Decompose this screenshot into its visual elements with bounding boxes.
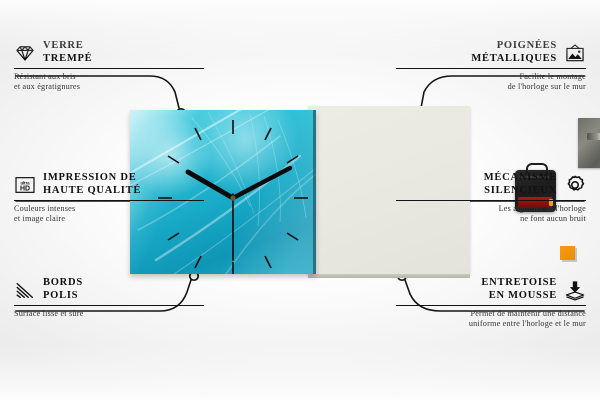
ultra-hd-icon: ultra HD [14,174,36,196]
diamond-icon [14,42,36,64]
foam-spacer [560,246,575,260]
feature-mecanisme-silencieux: MÉCANISME SILENCIEUX Les aiguilles de l'… [396,172,586,224]
divider [14,200,204,201]
divider [396,68,586,69]
feature-description: Surface lisse et sûre [14,309,204,319]
infographic-canvas: VERRE TREMPÉ Résistant aux bris et aux é… [0,0,600,400]
divider [14,68,204,69]
divider [396,200,586,201]
feature-description: Résistant aux bris et aux égratignures [14,72,204,92]
feature-description: Permet de maintenir une distance uniform… [396,309,586,329]
divider [396,305,586,306]
metal-hanger-plate [578,118,600,168]
feature-header: MÉCANISME SILENCIEUX [396,172,586,197]
hatch-lines-icon [14,279,36,301]
feature-description: Facilite le montage de l'horloge sur le … [396,72,586,92]
arrow-press-pad-icon [564,279,586,301]
feature-description: Les aiguilles de l'horloge ne font aucun… [396,204,586,224]
feature-description: Couleurs intenses et image claire [14,204,204,224]
feature-header: BORDS POLIS [14,277,204,302]
feature-title: IMPRESSION DE HAUTE QUALITÉ [43,172,141,197]
divider [14,305,204,306]
feature-title: POIGNÉES MÉTALLIQUES [471,40,557,65]
feature-header: ENTRETOISE EN MOUSSE [396,277,586,302]
feature-header: POIGNÉES MÉTALLIQUES [396,40,586,65]
gear-icon [564,174,586,196]
feature-bords-polis: BORDS POLIS Surface lisse et sûre [14,277,204,319]
feature-title: VERRE TREMPÉ [43,40,92,65]
feature-poignees-metalliques: POIGNÉES MÉTALLIQUES Facilite le montage… [396,40,586,92]
svg-text:HD: HD [20,185,30,192]
feature-verre-trempe: VERRE TREMPÉ Résistant aux bris et aux é… [14,40,204,92]
hanger-slot [587,133,600,140]
feature-title: MÉCANISME SILENCIEUX [484,172,557,197]
feature-header: ultra HD IMPRESSION DE HAUTE QUALITÉ [14,172,204,197]
picture-frame-hook-icon [564,42,586,64]
feature-entretoise-en-mousse: ENTRETOISE EN MOUSSE Permet de maintenir… [396,277,586,329]
feature-impression-hd: ultra HD IMPRESSION DE HAUTE QUALITÉ Cou… [14,172,204,224]
feature-title: BORDS POLIS [43,277,83,302]
feature-title: ENTRETOISE EN MOUSSE [481,277,557,302]
feature-header: VERRE TREMPÉ [14,40,204,65]
